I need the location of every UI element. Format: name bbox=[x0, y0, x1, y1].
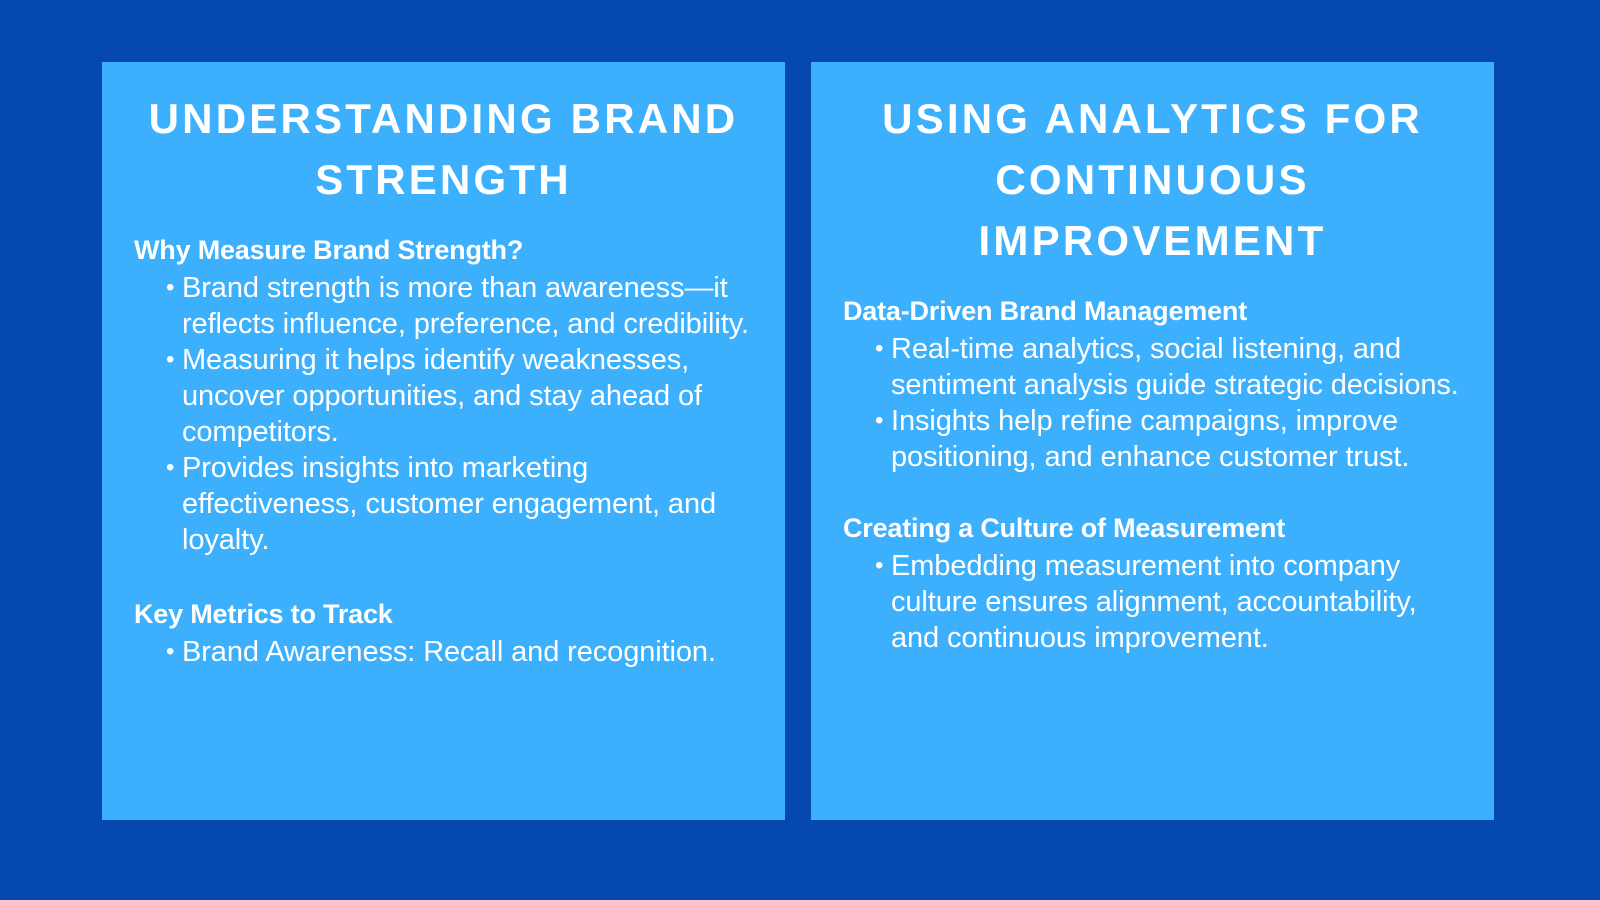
bullet-list: • Embedding measurement into company cul… bbox=[843, 548, 1462, 656]
list-item-text: Real-time analytics, social listening, a… bbox=[891, 333, 1459, 401]
list-item: • Measuring it helps identify weaknesses… bbox=[134, 342, 753, 450]
bullet-list: • Real-time analytics, social listening,… bbox=[843, 331, 1462, 475]
card-understanding-brand-strength: Understanding Brand Strength Why Measure… bbox=[102, 62, 785, 820]
list-item-text: Insights help refine campaigns, improve … bbox=[891, 405, 1409, 473]
bullet-icon: • bbox=[166, 634, 176, 670]
list-item: • Brand Awareness: Recall and recognitio… bbox=[134, 634, 753, 670]
section-creating-a-culture-of-measurement: Creating a Culture of Measurement • Embe… bbox=[843, 510, 1462, 656]
section-heading: Key Metrics to Track bbox=[134, 596, 753, 632]
list-item-text: Embedding measurement into company cultu… bbox=[891, 550, 1417, 654]
bullet-icon: • bbox=[875, 403, 885, 439]
section-why-measure-brand-strength: Why Measure Brand Strength? • Brand stre… bbox=[134, 232, 753, 558]
section-heading: Creating a Culture of Measurement bbox=[843, 510, 1462, 546]
section-key-metrics-to-track: Key Metrics to Track • Brand Awareness: … bbox=[134, 596, 753, 670]
list-item: • Brand strength is more than awareness—… bbox=[134, 270, 753, 342]
bullet-icon: • bbox=[875, 331, 885, 367]
bullet-icon: • bbox=[166, 450, 176, 486]
slide-canvas: Understanding Brand Strength Why Measure… bbox=[0, 0, 1600, 900]
list-item-text: Brand Awareness: Recall and recognition. bbox=[182, 636, 716, 668]
section-heading: Why Measure Brand Strength? bbox=[134, 232, 753, 268]
card-columns: Understanding Brand Strength Why Measure… bbox=[102, 62, 1494, 820]
list-item: • Insights help refine campaigns, improv… bbox=[843, 403, 1462, 475]
list-item: • Real-time analytics, social listening,… bbox=[843, 331, 1462, 403]
bullet-icon: • bbox=[166, 270, 176, 306]
list-item-text: Brand strength is more than awareness—it… bbox=[182, 272, 749, 340]
section-data-driven-brand-management: Data-Driven Brand Management • Real-time… bbox=[843, 293, 1462, 475]
list-item-text: Provides insights into marketing effecti… bbox=[182, 452, 716, 556]
section-heading: Data-Driven Brand Management bbox=[843, 293, 1462, 329]
card-title: Understanding Brand Strength bbox=[134, 88, 753, 210]
bullet-icon: • bbox=[166, 342, 176, 378]
bullet-list: • Brand strength is more than awareness—… bbox=[134, 270, 753, 558]
card-body: Data-Driven Brand Management • Real-time… bbox=[843, 293, 1462, 656]
list-item: • Provides insights into marketing effec… bbox=[134, 450, 753, 558]
list-item: • Embedding measurement into company cul… bbox=[843, 548, 1462, 656]
bullet-icon: • bbox=[875, 548, 885, 584]
list-item-text: Measuring it helps identify weaknesses, … bbox=[182, 344, 702, 448]
bullet-list: • Brand Awareness: Recall and recognitio… bbox=[134, 634, 753, 670]
card-title: Using Analytics for Continuous Improveme… bbox=[843, 88, 1462, 271]
card-body: Why Measure Brand Strength? • Brand stre… bbox=[134, 232, 753, 670]
card-using-analytics-for-continuous-improvement: Using Analytics for Continuous Improveme… bbox=[811, 62, 1494, 820]
